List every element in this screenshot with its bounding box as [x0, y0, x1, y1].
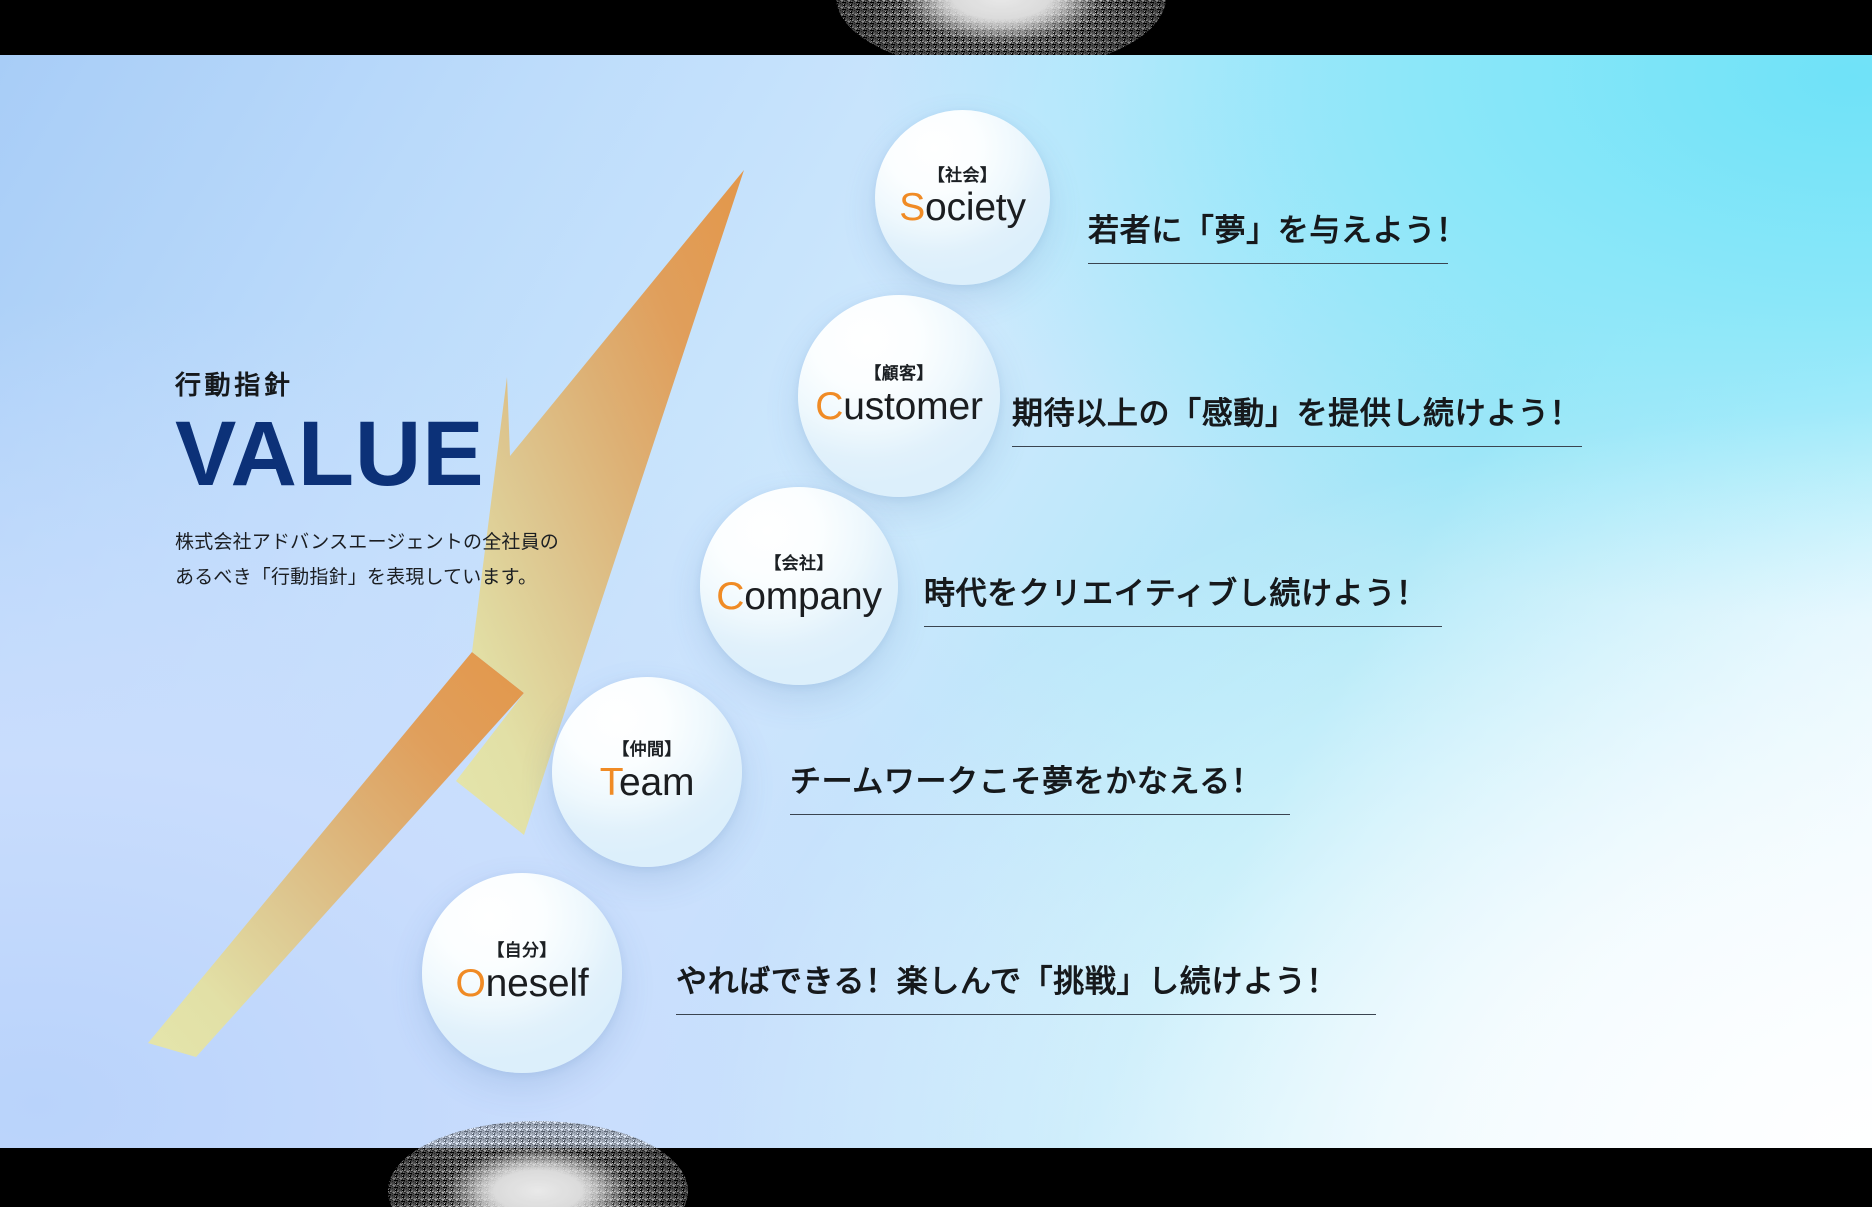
value-panel: 行動指針 VALUE 株式会社アドバンスエージェントの全社員の あるべき「行動指…: [0, 55, 1872, 1148]
value-bubble-customer-face: 【顧客】 Customer: [798, 295, 1000, 497]
value-bubble-team-word: Team: [600, 763, 695, 804]
value-tagline-society: 若者に「夢」を与えよう！: [1088, 212, 1448, 264]
value-tagline-company-rule: [924, 626, 1442, 627]
value-bubble-society[interactable]: 【社会】 Society: [875, 110, 1050, 285]
value-bubble-customer-word: Customer: [815, 387, 983, 428]
value-bubble-society-rest: ociety: [925, 186, 1026, 229]
value-tagline-customer-rule: [1012, 446, 1582, 447]
value-bubble-company-word: Company: [716, 577, 882, 618]
value-tagline-team: チームワークこそ夢をかなえる！: [790, 763, 1290, 815]
value-bubble-team[interactable]: 【仲間】 Team: [552, 677, 742, 867]
value-tagline-company: 時代をクリエイティブし続けよう！: [924, 575, 1442, 627]
value-bubble-customer-kana: 【顧客】: [864, 364, 933, 384]
value-tagline-society-text: 若者に「夢」を与えよう！: [1088, 212, 1448, 251]
page-description-line-2: あるべき「行動指針」を表現しています。: [175, 560, 645, 595]
page-kicker: 行動指針: [175, 370, 645, 401]
value-tagline-customer-text: 期待以上の「感動」を提供し続けよう！: [1012, 395, 1582, 434]
value-bubble-customer-rest: ustomer: [843, 385, 983, 428]
value-bubble-team-kana: 【仲間】: [612, 740, 681, 760]
value-tagline-team-text: チームワークこそ夢をかなえる！: [790, 763, 1290, 802]
value-bubble-company-face: 【会社】 Company: [700, 487, 898, 685]
value-tagline-customer: 期待以上の「感動」を提供し続けよう！: [1012, 395, 1582, 447]
value-bubble-team-initial: T: [600, 761, 619, 804]
value-heading-block: 行動指針 VALUE 株式会社アドバンスエージェントの全社員の あるべき「行動指…: [175, 370, 645, 596]
value-bubble-customer[interactable]: 【顧客】 Customer: [798, 295, 1000, 497]
value-bubble-oneself-kana: 【自分】: [487, 941, 556, 961]
value-tagline-oneself-rule: [676, 1014, 1376, 1015]
value-tagline-oneself: やればできる！楽しんで「挑戦」し続けよう！: [676, 963, 1376, 1015]
value-bubble-oneself[interactable]: 【自分】 Oneself: [422, 873, 622, 1073]
value-page-stage: 行動指針 VALUE 株式会社アドバンスエージェントの全社員の あるべき「行動指…: [0, 0, 1872, 1207]
value-bubble-company-initial: C: [716, 575, 744, 618]
value-bubble-society-word: Society: [899, 188, 1026, 229]
value-tagline-company-text: 時代をクリエイティブし続けよう！: [924, 575, 1442, 614]
value-bubble-society-face: 【社会】 Society: [875, 110, 1050, 285]
value-bubble-team-rest: eam: [619, 761, 694, 804]
value-bubble-company[interactable]: 【会社】 Company: [700, 487, 898, 685]
value-bubble-society-initial: S: [899, 186, 925, 229]
value-bubble-team-face: 【仲間】 Team: [552, 677, 742, 867]
value-bubble-oneself-rest: neself: [486, 962, 589, 1005]
value-bubble-customer-initial: C: [815, 385, 843, 428]
value-bubble-oneself-face: 【自分】 Oneself: [422, 873, 622, 1073]
page-title: VALUE: [175, 409, 645, 499]
page-description-line-1: 株式会社アドバンスエージェントの全社員の: [175, 525, 645, 560]
value-bubble-society-kana: 【社会】: [928, 166, 997, 186]
value-tagline-oneself-text: やればできる！楽しんで「挑戦」し続けよう！: [676, 963, 1376, 1002]
value-bubble-company-kana: 【会社】: [764, 554, 833, 574]
value-bubble-company-rest: ompany: [744, 575, 882, 618]
value-tagline-team-rule: [790, 814, 1290, 815]
value-tagline-society-rule: [1088, 263, 1448, 264]
value-bubble-oneself-word: Oneself: [455, 964, 588, 1005]
value-bubble-oneself-initial: O: [455, 962, 485, 1005]
